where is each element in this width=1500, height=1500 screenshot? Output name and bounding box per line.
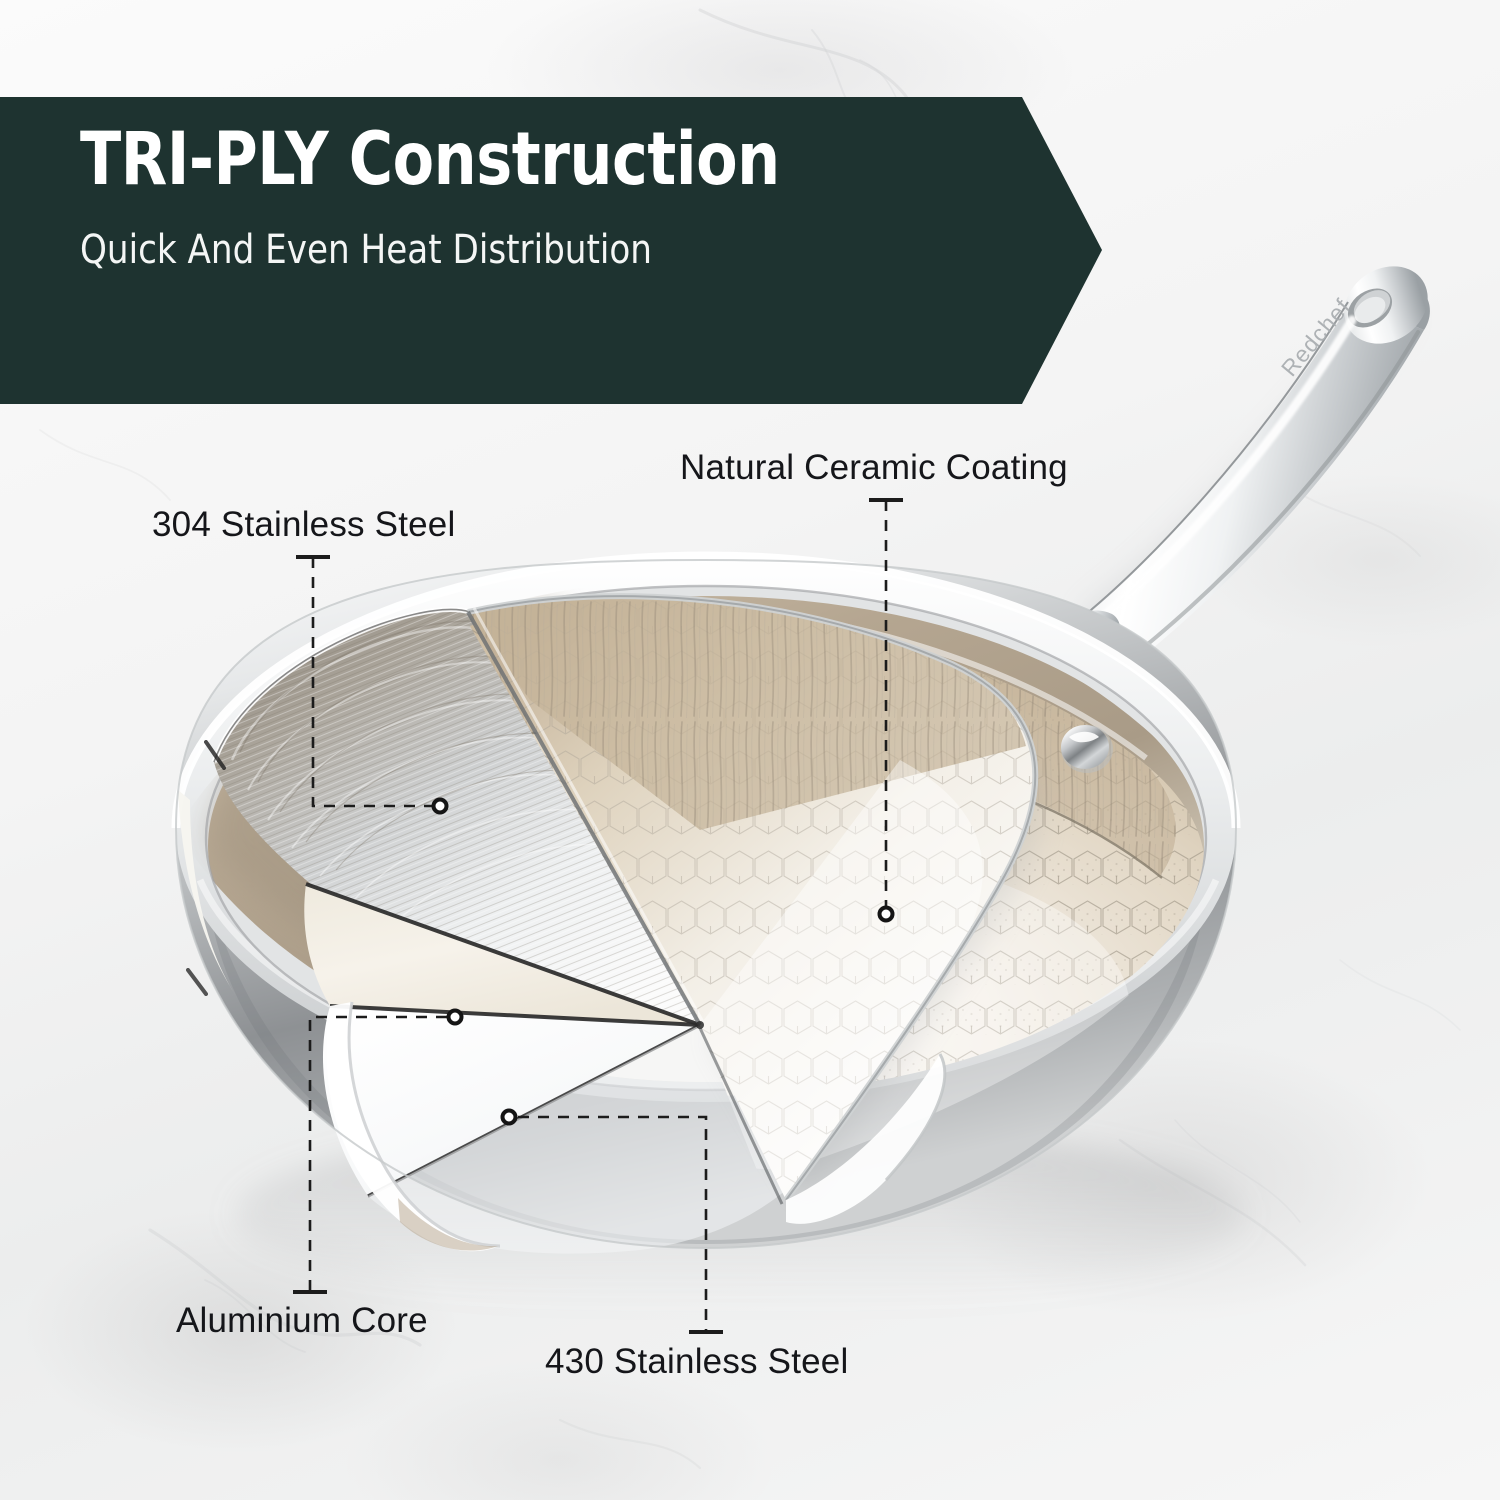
callout-label-304-stainless-steel: 304 Stainless Steel [152,507,455,542]
header-banner: TRI-PLY Construction Quick And Even Heat… [0,97,1105,404]
page-title: TRI-PLY Construction [80,123,908,196]
callout-label-natural-ceramic-coating: Natural Ceramic Coating [680,450,1068,485]
callout-label-430-stainless-steel: 430 Stainless Steel [545,1344,848,1379]
callout-label-aluminium-core: Aluminium Core [176,1303,428,1338]
header-text-block: TRI-PLY Construction Quick And Even Heat… [80,123,980,270]
page-subtitle: Quick And Even Heat Distribution [80,230,935,270]
infographic-root: Redchef [0,0,1500,1500]
rivet-lower [1061,725,1113,773]
